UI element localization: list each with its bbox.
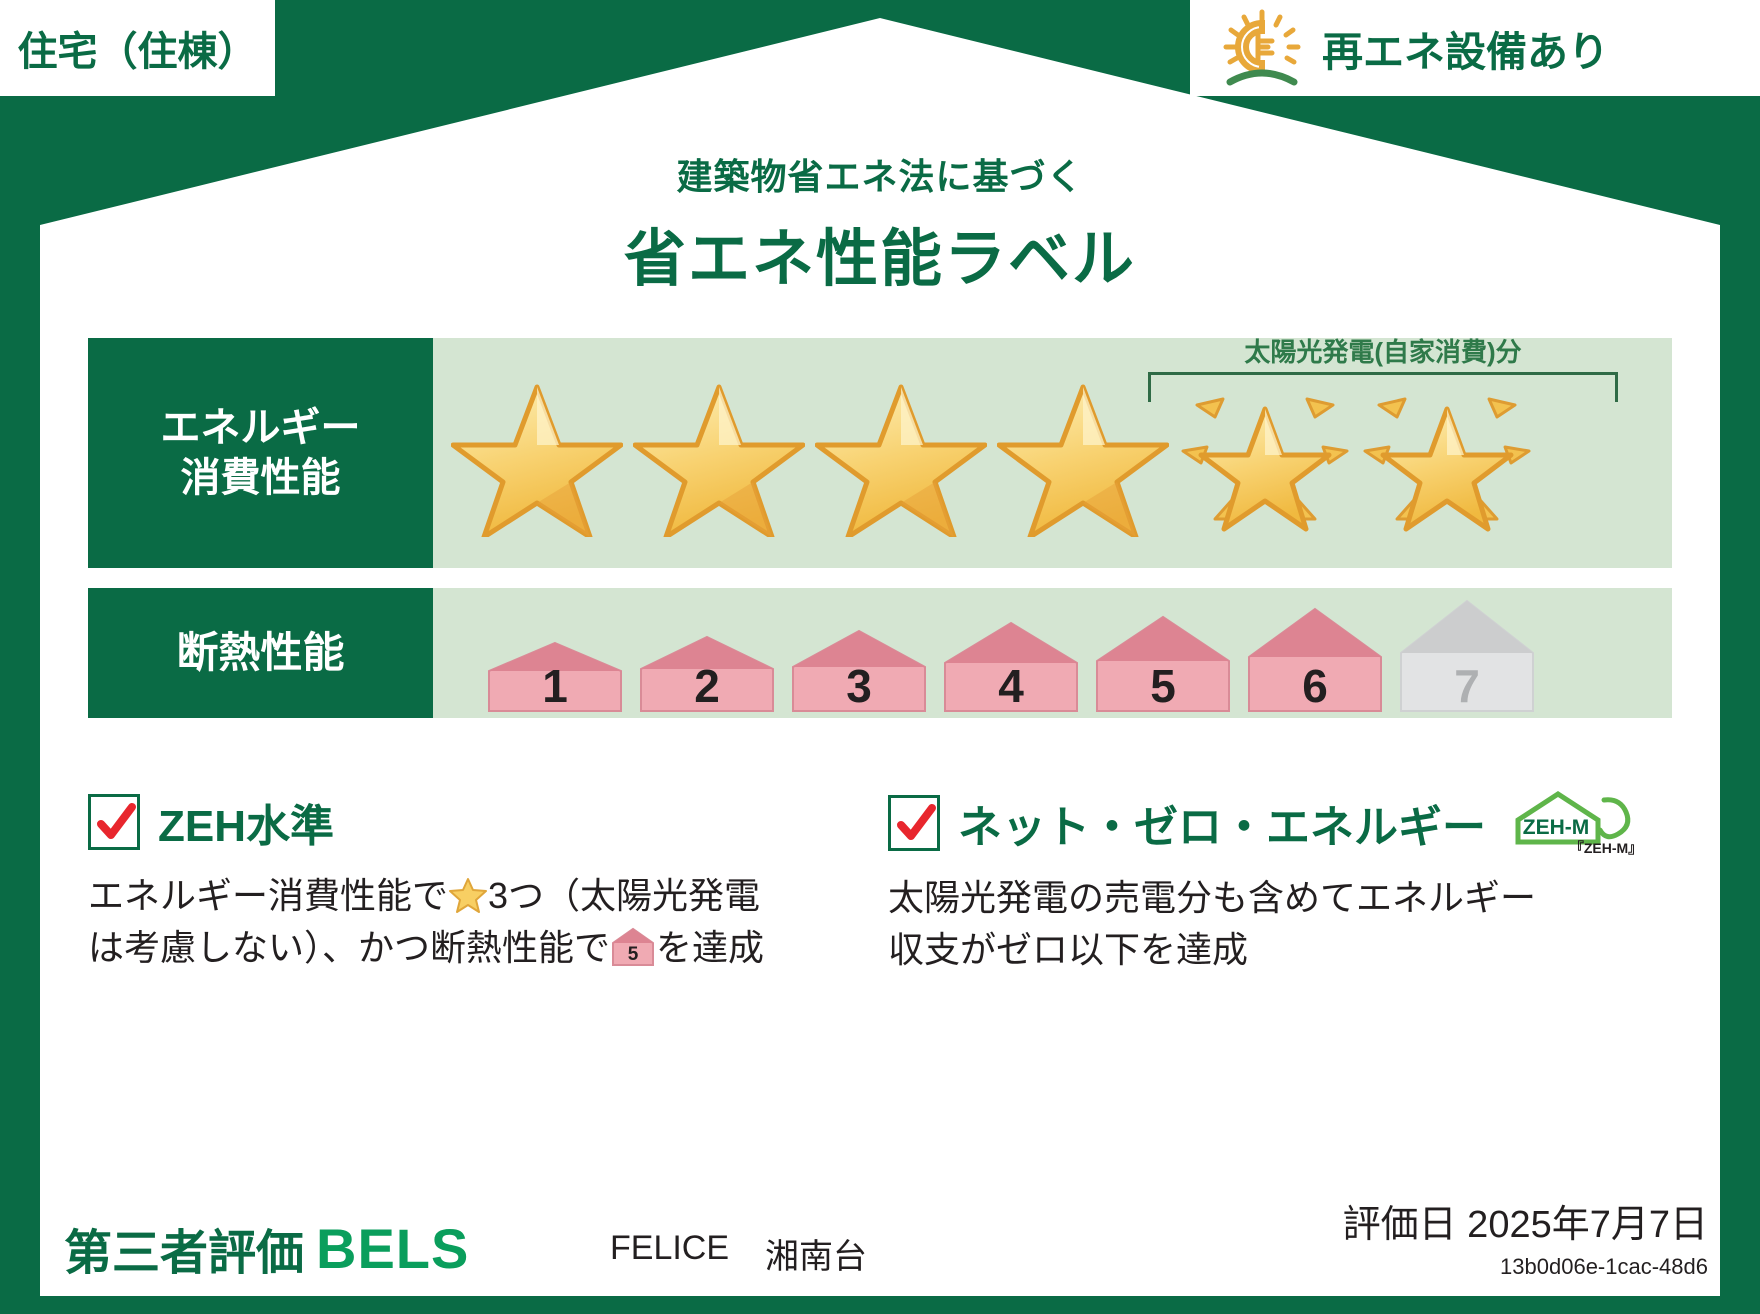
solar-annotation-bracket xyxy=(1148,372,1618,402)
criteria-net-zero-energy: ネット・ゼロ・エネルギー ZEH-M 『ZEH-M』 太陽光発電の売電分も含めて… xyxy=(888,790,1648,976)
inline-star-icon xyxy=(448,876,488,914)
bels-en-label: BELS xyxy=(316,1216,469,1281)
label-subtitle: 建築物省エネ法に基づく xyxy=(0,148,1760,200)
category-badge-label: 住宅（住棟） xyxy=(18,19,258,77)
energy-performance-body: 太陽光発電(自家消費)分 xyxy=(433,338,1672,568)
criteria-nze-header: ネット・ゼロ・エネルギー ZEH-M 『ZEH-M』 xyxy=(888,790,1648,856)
insulation-level-4: 4 xyxy=(937,613,1085,715)
insulation-level-7-number: 7 xyxy=(1393,663,1541,709)
solar-annotation-label: 太陽光発電(自家消費)分 xyxy=(1148,332,1618,369)
nze-desc-part-b: 収支がゼロ以下を達成 xyxy=(888,929,1248,970)
svg-text:5: 5 xyxy=(628,944,639,965)
evaluation-date: 評価日 2025年7月7日 xyxy=(1343,1193,1708,1248)
category-badge: 住宅（住棟） xyxy=(0,0,275,96)
bels-energy-label: 住宅（住棟） 再エネ設備あり xyxy=(0,0,1760,1314)
zeh-m-logo-icon: ZEH-M 『ZEH-M』 xyxy=(1506,790,1656,856)
zeh-standard-title: ZEH水準 xyxy=(158,790,334,854)
energy-star-3 xyxy=(815,369,987,537)
insulation-level-5-number: 5 xyxy=(1089,663,1237,709)
zeh-standard-description: エネルギー消費性能で3つ（太陽光発電 は考慮しない）、かつ断熱性能で5を達成 xyxy=(88,870,848,974)
energy-performance-label: エネルギー 消費性能 xyxy=(88,338,433,568)
criteria-section: ZEH水準 エネルギー消費性能で3つ（太陽光発電 は考慮しない）、かつ断熱性能で… xyxy=(88,790,1672,976)
check-icon xyxy=(94,801,138,845)
solar-annotation: 太陽光発電(自家消費)分 xyxy=(1148,332,1618,402)
evaluation-info: 評価日 2025年7月7日 13b0d06e-1cac-48d6 xyxy=(1343,1193,1708,1280)
net-zero-energy-checkbox[interactable] xyxy=(888,795,940,851)
inline-house-level-icon: 5 xyxy=(610,926,656,968)
insulation-level-2-number: 2 xyxy=(633,663,781,709)
insulation-level-7: 7 xyxy=(1393,591,1541,715)
zeh-desc-part-d: を達成 xyxy=(656,927,764,968)
criteria-zeh-header: ZEH水準 xyxy=(88,790,848,854)
energy-label-line2: 消費性能 xyxy=(181,453,341,503)
bels-jp-label: 第三者評価 xyxy=(64,1213,304,1283)
zeh-standard-checkbox[interactable] xyxy=(88,794,140,850)
nze-desc-part-a: 太陽光発電の売電分も含めてエネルギー xyxy=(888,877,1536,918)
energy-star-4 xyxy=(997,369,1169,537)
insulation-label-text: 断熱性能 xyxy=(176,627,344,680)
insulation-level-4-number: 4 xyxy=(937,663,1085,709)
net-zero-energy-title: ネット・ゼロ・エネルギー xyxy=(958,791,1486,855)
label-title: 省エネ性能ラベル xyxy=(0,208,1760,298)
insulation-level-2: 2 xyxy=(633,629,781,715)
insulation-performance-label: 断熱性能 xyxy=(88,588,433,718)
svg-text:『ZEH-M』: 『ZEH-M』 xyxy=(1570,840,1642,856)
label-title-block: 建築物省エネ法に基づく 省エネ性能ラベル xyxy=(0,148,1760,298)
evaluation-id: 13b0d06e-1cac-48d6 xyxy=(1343,1254,1708,1280)
insulation-level-6-number: 6 xyxy=(1241,663,1389,709)
building-name: FELICE xyxy=(610,1229,729,1278)
energy-star-1 xyxy=(451,369,623,537)
solar-sun-icon xyxy=(1216,8,1308,88)
svg-text:ZEH-M: ZEH-M xyxy=(1523,816,1590,839)
criteria-zeh-standard: ZEH水準 エネルギー消費性能で3つ（太陽光発電 は考慮しない）、かつ断熱性能で… xyxy=(88,790,848,976)
energy-performance-row: エネルギー 消費性能 太陽光発電(自家消費)分 xyxy=(88,338,1672,568)
insulation-level-6: 6 xyxy=(1241,599,1389,715)
insulation-level-1: 1 xyxy=(481,637,629,715)
insulation-performance-body: 1 2 3 xyxy=(433,588,1672,718)
energy-star-2 xyxy=(633,369,805,537)
insulation-level-3-number: 3 xyxy=(785,663,933,709)
energy-label-line1: エネルギー xyxy=(161,403,361,453)
zeh-desc-part-a: エネルギー消費性能で xyxy=(88,875,448,916)
insulation-level-5: 5 xyxy=(1089,607,1237,715)
renewable-badge-label: 再エネ設備あり xyxy=(1322,18,1609,78)
bels-footer-badge: 第三者評価 BELS xyxy=(40,1200,600,1296)
check-icon xyxy=(894,802,938,846)
building-area: 湘南台 xyxy=(765,1229,867,1278)
zeh-desc-part-c: は考慮しない）、かつ断熱性能で xyxy=(88,927,610,968)
insulation-level-scale: 1 2 3 xyxy=(433,591,1672,715)
building-identity: FELICE 湘南台 xyxy=(610,1229,867,1278)
insulation-level-1-number: 1 xyxy=(481,663,629,709)
renewable-badge: 再エネ設備あり xyxy=(1190,0,1760,96)
insulation-performance-row: 断熱性能 1 2 xyxy=(88,588,1672,718)
insulation-level-3: 3 xyxy=(785,621,933,715)
net-zero-energy-description: 太陽光発電の売電分も含めてエネルギー 収支がゼロ以下を達成 xyxy=(888,872,1648,976)
zeh-desc-part-b: 3つ（太陽光発電 xyxy=(488,875,760,916)
